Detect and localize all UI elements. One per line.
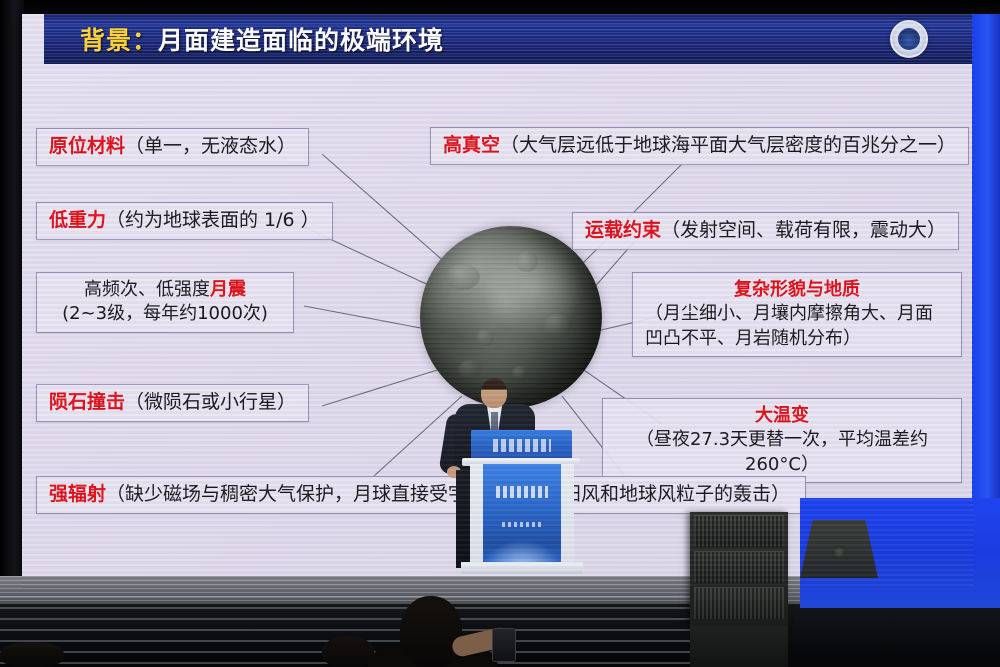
info-box-meteorite-impact: 陨石撞击（微陨石或小行星） (36, 384, 309, 422)
info-box-complex-terrain: 复杂形貌与地质 （月尘细小、月壤内摩擦角大、月面凹凸不平、月岩随机分布） (632, 272, 962, 357)
moon-sphere-graphic (420, 226, 602, 408)
detail-gravity: （约为地球表面的 1/6 ） (106, 209, 320, 231)
title-prefix: 背景： (80, 26, 158, 55)
keyword-gravity: 低重力 (49, 209, 106, 231)
detail-launch: （发射空间、载荷有限，震动大） (661, 219, 946, 241)
speaker-segment (694, 515, 784, 547)
info-box-high-vacuum: 高真空（大气层远低于地球海平面大气层密度的百兆分之一） (430, 127, 969, 165)
detail-vacuum: （大气层远低于地球海平面大气层密度的百兆分之一） (500, 134, 956, 156)
photo-scene: 背景：月面建造面临的极端环境 原位材料（单一，无液态水） 高真空（大气层远低于地… (0, 0, 1000, 667)
info-box-low-gravity: 低重力（约为地球表面的 1/6 ） (36, 202, 333, 240)
detail2-temp: （昼夜27.3天更替一次，平均温差约260°C） (636, 429, 928, 474)
audience-phone (492, 628, 516, 662)
audience-member-head (0, 642, 64, 667)
audience-member-head (322, 636, 374, 667)
title-main: 月面建造面临的极端环境 (158, 26, 444, 55)
info-box-temperature-swing: 大温变 （昼夜27.3天更替一次，平均温差约260°C） (602, 398, 962, 483)
line-array-speaker (690, 512, 788, 630)
keyword-meteor: 陨石撞击 (49, 391, 125, 413)
keyword-quake: 月震 (210, 279, 246, 300)
detail-radiation: （缺少磁场与稠密大气保护，月球直接受宇宙射线、太阳风和地球风粒子的轰击） (106, 483, 790, 505)
keyword-radiation: 强辐射 (49, 483, 106, 505)
detail2-terrain: （月尘细小、月壤内摩擦角大、月面凹凸不平、月岩随机分布） (645, 303, 933, 348)
page-title: 背景：月面建造面临的极端环境 (80, 21, 444, 57)
slide-title-band: 背景：月面建造面临的极端环境 (44, 14, 974, 64)
audience-member-head (400, 596, 462, 667)
keyword-launch: 运载约束 (585, 219, 661, 241)
speaker-segment (694, 587, 784, 619)
info-box-moonquake: 高频次、低强度月震 (2~3级，每年约1000次) (36, 272, 294, 333)
lead-quake: 高频次、低强度 (84, 279, 210, 300)
info-box-launch-constraint: 运载约束（发射空间、载荷有限，震动大） (572, 212, 959, 250)
info-box-strong-radiation: 强辐射（缺少磁场与稠密大气保护，月球直接受宇宙射线、太阳风和地球风粒子的轰击） (36, 476, 806, 514)
keyword-vacuum: 高真空 (443, 134, 500, 156)
detail2-quake: (2~3级，每年约1000次) (49, 302, 281, 326)
keyword-temp: 大温变 (615, 404, 949, 428)
university-emblem-icon (890, 20, 928, 58)
speaker-segment (694, 551, 784, 583)
wedge-driver-icon (832, 545, 846, 559)
keyword-terrain: 复杂形貌与地质 (645, 278, 949, 302)
line-array-speaker-lower (690, 626, 788, 667)
room-left-dark (0, 0, 24, 600)
stage-monitor-wedge (800, 520, 878, 578)
info-box-insitu-material: 原位材料（单一，无液态水） (36, 128, 309, 166)
detail-meteor: （微陨石或小行星） (125, 391, 296, 413)
keyword-insitu: 原位材料 (49, 135, 125, 157)
detail-insitu: （单一，无液态水） (125, 135, 296, 157)
